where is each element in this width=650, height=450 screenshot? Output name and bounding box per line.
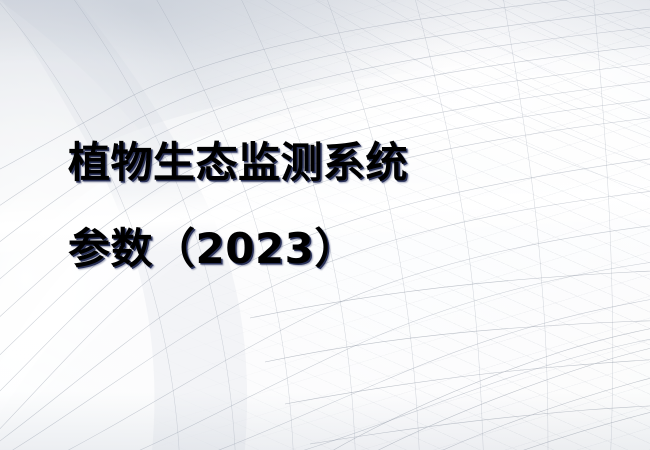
title-line-2: 参数（2023） <box>68 206 608 292</box>
title-line-1: 植物生态监测系统 <box>68 120 608 206</box>
title-slide: 植物生态监测系统 参数（2023） <box>0 0 650 450</box>
title-block: 植物生态监测系统 参数（2023） <box>68 120 608 292</box>
